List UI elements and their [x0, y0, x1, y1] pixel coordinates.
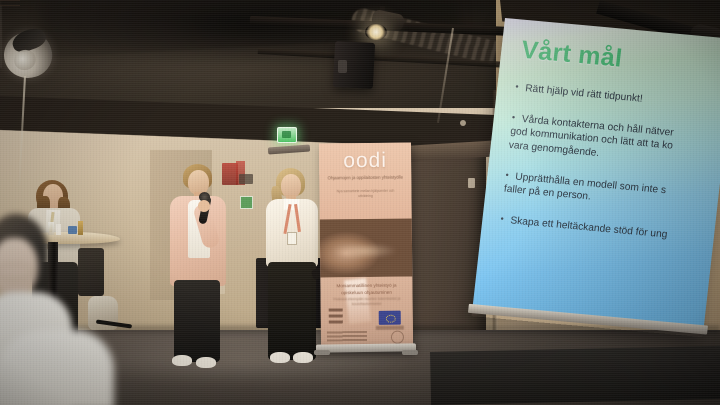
door-latch-icon	[468, 178, 475, 188]
speaker1-trousers	[174, 280, 220, 362]
audience-foreground-second	[0, 330, 114, 405]
projector-lens-icon	[338, 60, 347, 73]
banner-photo	[320, 219, 413, 278]
banner-seal-icon	[391, 331, 404, 344]
banner-stand-foot-right	[402, 350, 418, 355]
banner-lower-heading: Moniammatillinen yhteistyö ja opiskeluun…	[328, 283, 404, 298]
speaker2-shoe-right	[293, 352, 313, 363]
eu-flag-caption	[376, 326, 404, 330]
banner-side-glyph	[329, 308, 343, 326]
banner-logo: oodi	[319, 149, 411, 174]
slide-surface: Vårt mål Rätt hjälp vid rätt tidpunkt! V…	[473, 18, 720, 327]
banner-subtitle-secondary: Nya samarbete mellan hjälpcenter och utb…	[329, 189, 401, 200]
table-bottle	[78, 221, 83, 235]
speaker2-shoe-left	[270, 352, 290, 363]
banner-stand-foot-left	[314, 350, 330, 355]
speaker1-trouser-seam	[0, 6, 2, 68]
banner-subtitle-primary: Ohjaamojen ja oppilaitosten yhteistyölle	[325, 175, 405, 182]
stage-chair	[78, 248, 104, 296]
speaker2-badge	[287, 232, 297, 245]
banner-lower-subheading: Yhdessä eteenpäin nuorten tukemiseksi ja…	[331, 297, 403, 309]
speaker-with-microphone	[0, 0, 20, 68]
speaker1-glasses-icon	[0, 0, 20, 6]
presentation-photo: oodi Ohjaamojen ja oppilaitosten yhteist…	[0, 0, 720, 405]
banner-footer-logos	[327, 331, 367, 341]
wall-green-indicator-icon	[240, 196, 253, 209]
cable-weight	[460, 120, 466, 126]
eu-flag-icon	[379, 311, 401, 325]
speaker1-hand	[198, 200, 210, 212]
screen-sheen	[473, 18, 720, 327]
speaker2-trousers	[268, 262, 316, 360]
right-baseboard	[430, 346, 720, 405]
projection-screen: Vårt mål Rätt hjälp vid rätt tidpunkt! V…	[472, 18, 720, 337]
spotlight-glow	[365, 24, 387, 40]
rollup-banner: oodi Ohjaamojen ja oppilaitosten yhteist…	[319, 143, 413, 348]
audience-glasses-icon	[0, 264, 34, 279]
speaker1-shoe-right	[196, 357, 216, 368]
exit-sign-icon	[277, 127, 297, 143]
speaker1-shoe-left	[172, 355, 192, 366]
wall-control-panel-icon	[239, 174, 253, 184]
